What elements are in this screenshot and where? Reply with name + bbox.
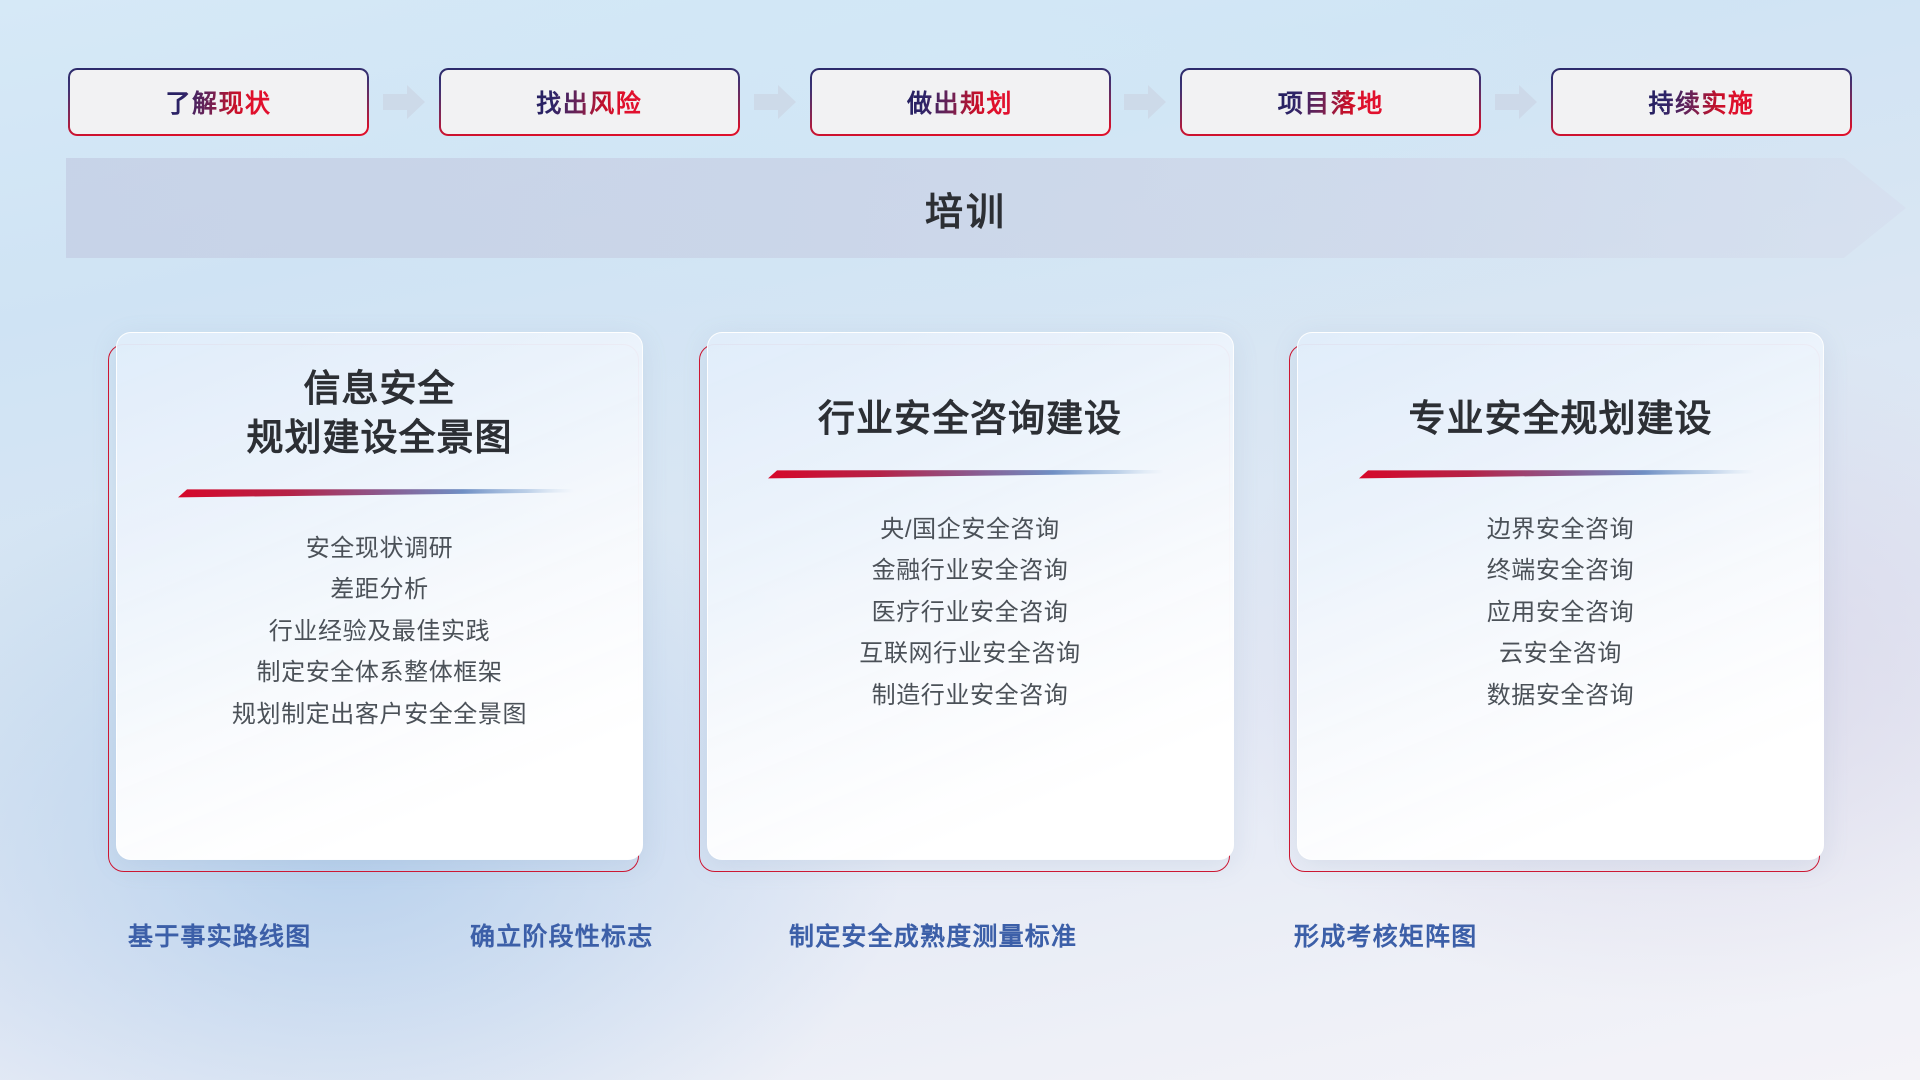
list-item: 央/国企安全咨询	[708, 509, 1233, 551]
card-body: 信息安全 规划建设全景图	[116, 332, 643, 860]
card-body: 行业安全咨询建设	[707, 332, 1234, 860]
step-label: 找出风险	[536, 84, 642, 120]
list-item: 应用安全咨询	[1298, 592, 1823, 634]
training-banner: 培训	[66, 158, 1906, 258]
step-box-1[interactable]: 了解现状	[68, 68, 369, 136]
list-item: 制定安全体系整体框架	[117, 652, 642, 694]
bottom-label-4: 形成考核矩阵图	[1294, 917, 1477, 953]
card-divider	[1359, 470, 1755, 479]
bottom-label-1: 基于事实路线图	[128, 917, 311, 953]
step-label: 做出规划	[907, 84, 1013, 120]
arrow-right-icon	[751, 81, 799, 123]
banner-title: 培训	[66, 158, 1906, 258]
step-box-3[interactable]: 做出规划	[810, 68, 1111, 136]
list-item: 差距分析	[117, 569, 642, 611]
service-card-row: 信息安全 规划建设全景图	[108, 332, 1820, 872]
bottom-label-row: 基于事实路线图 确立阶段性标志 制定安全成熟度测量标准 形成考核矩阵图	[0, 917, 1920, 961]
step-box-2[interactable]: 找出风险	[439, 68, 740, 136]
card-body: 专业安全规划建设	[1297, 332, 1824, 860]
card-title: 专业安全规划建设	[1298, 395, 1823, 444]
step-label: 持续实施	[1648, 84, 1754, 120]
step-box-5[interactable]: 持续实施	[1551, 68, 1852, 136]
list-item: 终端安全咨询	[1298, 550, 1823, 592]
card-title: 行业安全咨询建设	[708, 395, 1233, 444]
arrow-right-icon	[1121, 81, 1169, 123]
arrow-right-icon	[1492, 81, 1540, 123]
slide-canvas: 了解现状 找出风险 做出规划 项目落地	[0, 0, 1920, 1080]
service-card-1[interactable]: 信息安全 规划建设全景图	[108, 332, 639, 872]
step-label: 了解现状	[165, 84, 271, 120]
list-item: 云安全咨询	[1298, 633, 1823, 675]
list-item: 行业经验及最佳实践	[117, 611, 642, 653]
bottom-label-2: 确立阶段性标志	[470, 917, 653, 953]
list-item: 安全现状调研	[117, 528, 642, 570]
list-item: 医疗行业安全咨询	[708, 592, 1233, 634]
arrow-right-icon	[380, 81, 428, 123]
card-divider	[178, 489, 574, 498]
bottom-label-3: 制定安全成熟度测量标准	[789, 917, 1077, 953]
list-item: 金融行业安全咨询	[708, 550, 1233, 592]
card-divider	[768, 470, 1164, 479]
step-label: 项目落地	[1278, 84, 1384, 120]
step-box-4[interactable]: 项目落地	[1180, 68, 1481, 136]
card-item-list: 安全现状调研 差距分析 行业经验及最佳实践 制定安全体系整体框架 规划制定出客户…	[117, 528, 642, 736]
list-item: 边界安全咨询	[1298, 509, 1823, 551]
card-item-list: 边界安全咨询 终端安全咨询 应用安全咨询 云安全咨询 数据安全咨询	[1298, 509, 1823, 717]
service-card-2[interactable]: 行业安全咨询建设	[699, 332, 1230, 872]
list-item: 规划制定出客户安全全景图	[117, 694, 642, 736]
list-item: 数据安全咨询	[1298, 675, 1823, 717]
list-item: 互联网行业安全咨询	[708, 633, 1233, 675]
card-item-list: 央/国企安全咨询 金融行业安全咨询 医疗行业安全咨询 互联网行业安全咨询 制造行…	[708, 509, 1233, 717]
process-step-row: 了解现状 找出风险 做出规划 项目落地	[68, 66, 1852, 138]
list-item: 制造行业安全咨询	[708, 675, 1233, 717]
service-card-3[interactable]: 专业安全规划建设	[1289, 332, 1820, 872]
card-title: 信息安全 规划建设全景图	[117, 365, 642, 463]
